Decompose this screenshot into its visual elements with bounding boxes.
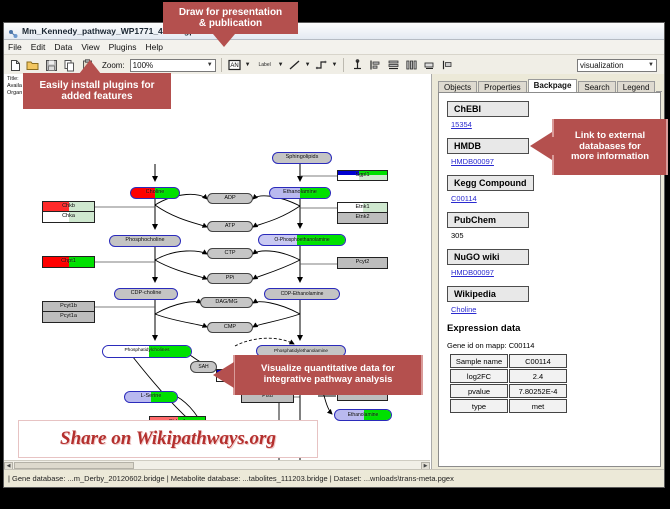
callout-draw-line2: & publication <box>199 18 262 29</box>
status-bar: | Gene database: ...m_Derby_20120602.bri… <box>4 469 664 487</box>
node-label: Chka <box>62 214 75 220</box>
node-label: ATP <box>225 224 235 230</box>
align-left-icon[interactable] <box>367 57 383 73</box>
visualization-combobox[interactable]: visualization ▼ <box>577 59 657 72</box>
node-ethanolamine-2[interactable]: Ethanolamine <box>334 409 392 421</box>
node-label: Ethanolamine <box>283 190 317 196</box>
menu-item-help[interactable]: Help <box>146 42 163 52</box>
node-label: Phosphocholine <box>125 238 164 244</box>
table-cell-key: pvalue <box>450 384 508 398</box>
menu-item-edit[interactable]: Edit <box>31 42 46 52</box>
node-ppi[interactable]: PPi <box>207 273 253 284</box>
chevron-down-icon[interactable]: ▼ <box>332 62 338 68</box>
callout-plugins: Easily install plugins for added feature… <box>23 73 171 109</box>
db-header-wikipedia: Wikipedia <box>447 286 529 302</box>
table-cell-key: type <box>450 399 508 413</box>
menu-item-plugins[interactable]: Plugins <box>109 42 137 52</box>
status-text: | Gene database: ...m_Derby_20120602.bri… <box>8 474 454 483</box>
db-header-hmdb: HMDB <box>447 138 529 154</box>
table-cell-value: met <box>509 399 567 413</box>
node-chka[interactable]: Chka <box>42 212 95 223</box>
share-banner: Share on Wikipathways.org <box>18 420 318 458</box>
svg-text:AN: AN <box>231 63 239 69</box>
menu-item-data[interactable]: Data <box>54 42 72 52</box>
node-label: CTP <box>225 251 236 257</box>
node-label: Ethanolamine <box>348 413 379 418</box>
node-label: CDP-Ethanolamine <box>281 292 324 297</box>
table-row: type met <box>450 399 567 413</box>
callout-link-line3: more information <box>571 152 649 163</box>
table-row: log2FC 2.4 <box>450 369 567 383</box>
node-label: O-Phosphoethanolamine <box>274 238 329 243</box>
db-header-kegg-compound: Kegg Compound <box>447 175 534 191</box>
callout-plugins-line2: added features <box>61 91 132 102</box>
node-label: Pcyt1b <box>60 304 77 310</box>
node-sphingolipids[interactable]: Sphingolipids <box>272 152 332 164</box>
table-cell-value: C00114 <box>509 354 567 368</box>
chevron-down-icon[interactable]: ▼ <box>278 62 284 68</box>
table-cell-key: Sample name <box>450 354 508 368</box>
node-label: Etnk1 <box>355 205 369 211</box>
expression-table: Sample name C00114 log2FC 2.4 pvalue 7.8… <box>449 353 568 414</box>
node-label: Phosphatidylcholines <box>124 349 169 354</box>
zoom-label: Zoom: <box>102 61 125 70</box>
chevron-down-icon: ▼ <box>648 62 654 68</box>
db-link-kegg-compound[interactable]: C00114 <box>451 194 660 203</box>
connector-icon[interactable] <box>314 57 330 73</box>
node-phosphocholine[interactable]: Phosphocholine <box>109 235 181 247</box>
node-dag-mg[interactable]: DAG/MG <box>200 297 253 308</box>
chevron-down-icon[interactable]: ▼ <box>305 62 311 68</box>
node-label: Pcyt2 <box>356 260 370 266</box>
node-ctp[interactable]: CTP <box>207 248 253 259</box>
db-link-nugo-wiki[interactable]: HMDB00097 <box>451 268 660 277</box>
node-label: PPi <box>226 276 235 282</box>
node-label: Sphingolipids <box>286 155 319 161</box>
pathvisio-icon <box>8 26 18 36</box>
chevron-down-icon: ▼ <box>207 62 213 68</box>
node-label: ADP <box>224 196 235 202</box>
callout-visualize: Visualize quantitative data for integrat… <box>233 355 423 395</box>
distribute-icon[interactable] <box>403 57 419 73</box>
node-label: Sgpl1 <box>355 173 369 179</box>
callout-link-arrow-stem <box>544 137 556 155</box>
node-label: L-Serine <box>141 394 162 400</box>
node-cmp[interactable]: CMP <box>207 322 253 333</box>
callout-visualize-arrow-left <box>213 362 234 388</box>
node-pcyt1b[interactable]: Pcyt1b <box>42 301 95 312</box>
scroll-thumb[interactable] <box>14 462 134 469</box>
zoom-value: 100% <box>133 61 153 70</box>
node-cdp-choline[interactable]: CDP-choline <box>114 288 178 300</box>
open-folder-icon[interactable] <box>25 57 41 73</box>
node-l-serine-left[interactable]: L-Serine <box>124 391 178 403</box>
datanode-icon[interactable]: AN <box>227 57 243 73</box>
node-adp[interactable]: ADP <box>207 193 253 204</box>
node-pcyt2[interactable]: Pcyt2 <box>337 257 388 269</box>
callout-link-databases: Link to external databases for more info… <box>552 119 668 175</box>
zoom-combobox[interactable]: 100% ▼ <box>130 59 216 72</box>
expression-data-title: Expression data <box>447 323 660 334</box>
new-file-icon[interactable] <box>7 57 23 73</box>
callout-visualize-line2: integrative pathway analysis <box>264 375 393 386</box>
title-bar: Mm_Kennedy_pathway_WP1771_45176.gpml <box>4 23 664 40</box>
node-o-phosphoethanolamine[interactable]: O-Phosphoethanolamine <box>258 234 346 246</box>
db-header-chebi: ChEBI <box>447 101 529 117</box>
node-chpt1[interactable]: Chpt1 <box>42 256 95 268</box>
node-label: DAG/MG <box>215 300 237 306</box>
stack-icon[interactable] <box>385 57 401 73</box>
group-icon[interactable] <box>421 57 437 73</box>
node-etnk2[interactable]: Etnk2 <box>337 213 388 224</box>
node-label: Phosphatidylethanolamine <box>274 349 328 354</box>
node-label: Chkb <box>62 204 75 210</box>
menu-item-view[interactable]: View <box>81 42 99 52</box>
tab-backpage[interactable]: Backpage <box>528 79 578 92</box>
node-chkb[interactable]: Chkb <box>42 201 95 212</box>
db-header-pubchem: PubChem <box>447 212 529 228</box>
gene-id-label: Gene id on mapp: C00114 <box>447 341 660 350</box>
table-cell-value: 7.80252E-4 <box>509 384 567 398</box>
visualization-value: visualization <box>580 61 624 70</box>
side-panel-tabs[interactable]: Objects Properties Backpage Search Legen… <box>432 74 664 92</box>
node-label: Pisd <box>262 394 273 400</box>
node-choline-top[interactable]: Choline <box>130 187 180 199</box>
menu-bar[interactable]: File Edit Data View Plugins Help <box>4 40 664 55</box>
copy-icon[interactable] <box>61 57 77 73</box>
node-label: Etnk2 <box>355 215 369 221</box>
toolbar-separator <box>221 58 222 72</box>
node-sgpl1[interactable]: Sgpl1 <box>337 170 388 181</box>
node-label: Pcyt1a <box>60 314 77 320</box>
node-label: SAH <box>198 365 208 370</box>
node-label: CMP <box>224 325 236 331</box>
pathway-canvas[interactable]: Title: Availa Organ <box>4 74 432 470</box>
db-value-pubchem: 305 <box>451 231 660 240</box>
node-ethanolamine-1[interactable]: Ethanolamine <box>269 187 331 199</box>
tab-filler <box>656 78 662 92</box>
label-dropdown[interactable]: Label <box>254 57 276 73</box>
node-etnk1[interactable]: Etnk1 <box>337 202 388 213</box>
node-label: CDP-choline <box>131 291 162 297</box>
node-cdp-ethanolamine[interactable]: CDP-Ethanolamine <box>264 288 340 300</box>
db-link-wikipedia[interactable]: Choline <box>451 305 660 314</box>
node-pcyt1a[interactable]: Pcyt1a <box>42 312 95 323</box>
line-icon[interactable] <box>287 57 303 73</box>
callout-draw: Draw for presentation & publication <box>163 2 298 34</box>
callout-draw-line1: Draw for presentation <box>179 7 282 18</box>
toolbar-separator <box>343 58 344 72</box>
db-header-nugo-wiki: NuGO wiki <box>447 249 529 265</box>
callout-plugins-arrow-up <box>79 60 101 74</box>
save-icon[interactable] <box>43 57 59 73</box>
chevron-down-icon[interactable]: ▼ <box>245 62 251 68</box>
table-row: Sample name C00114 <box>450 354 567 368</box>
table-cell-value: 2.4 <box>509 369 567 383</box>
menu-item-file[interactable]: File <box>8 42 22 52</box>
label-dropdown-text: Label <box>259 62 271 68</box>
screenshot-root: Mm_Kennedy_pathway_WP1771_45176.gpml Fil… <box>0 0 670 509</box>
anchor-icon[interactable] <box>349 57 365 73</box>
node-label: Chpt1 <box>61 259 76 265</box>
table-row: pvalue 7.80252E-4 <box>450 384 567 398</box>
order-icon[interactable] <box>439 57 455 73</box>
table-cell-key: log2FC <box>450 369 508 383</box>
node-atp[interactable]: ATP <box>207 221 253 232</box>
callout-plugins-line1: Easily install plugins for <box>39 80 154 91</box>
node-phosphatidylcholines[interactable]: Phosphatidylcholines <box>102 345 192 358</box>
callout-draw-arrow-down <box>213 34 235 47</box>
node-label: Choline <box>146 190 165 196</box>
